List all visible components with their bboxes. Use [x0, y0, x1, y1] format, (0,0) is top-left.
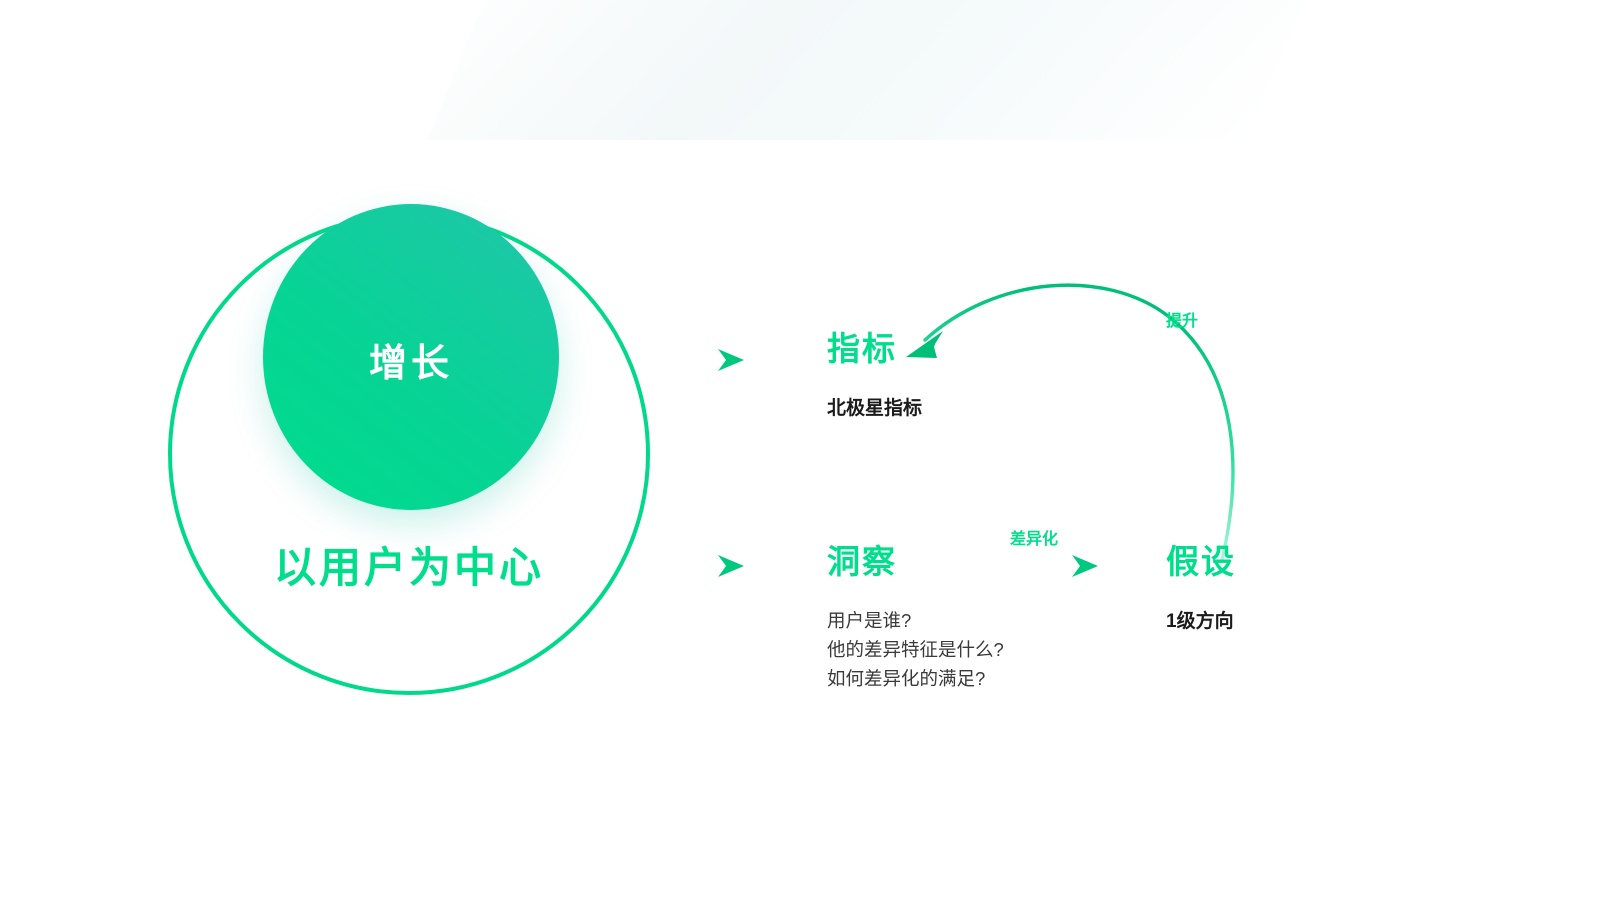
node-insight: 洞察 用户是谁? 他的差异特征是什么? 如何差异化的满足?: [827, 545, 1004, 693]
node-metric: 指标 北极星指标: [827, 332, 922, 423]
node-metric-subtitle: 北极星指标: [827, 395, 922, 423]
growth-core-label: 增长: [263, 332, 559, 387]
node-insight-question-1: 用户是谁?: [827, 606, 1004, 635]
arrow-insight-to-hypothesis: [988, 555, 1098, 577]
user-centric-label: 以用户为中心: [168, 534, 650, 595]
node-insight-questions: 用户是谁? 他的差异特征是什么? 如何差异化的满足?: [827, 606, 1004, 693]
diagram-canvas: 增长 以用户为中心: [0, 0, 1600, 900]
node-hypothesis-title: 假设: [1166, 545, 1236, 578]
node-hypothesis: 假设 1级方向: [1166, 545, 1236, 636]
node-insight-question-3: 如何差异化的满足?: [827, 664, 1004, 693]
node-hypothesis-subtitle: 1级方向: [1166, 608, 1236, 636]
background-wash: [427, 0, 1352, 140]
node-metric-title: 指标: [827, 332, 922, 365]
edge-label-differentiation: 差异化: [1010, 525, 1058, 549]
node-insight-title: 洞察: [827, 545, 1004, 578]
node-insight-question-2: 他的差异特征是什么?: [827, 635, 1004, 664]
edge-label-improve: 提升: [1166, 307, 1198, 331]
